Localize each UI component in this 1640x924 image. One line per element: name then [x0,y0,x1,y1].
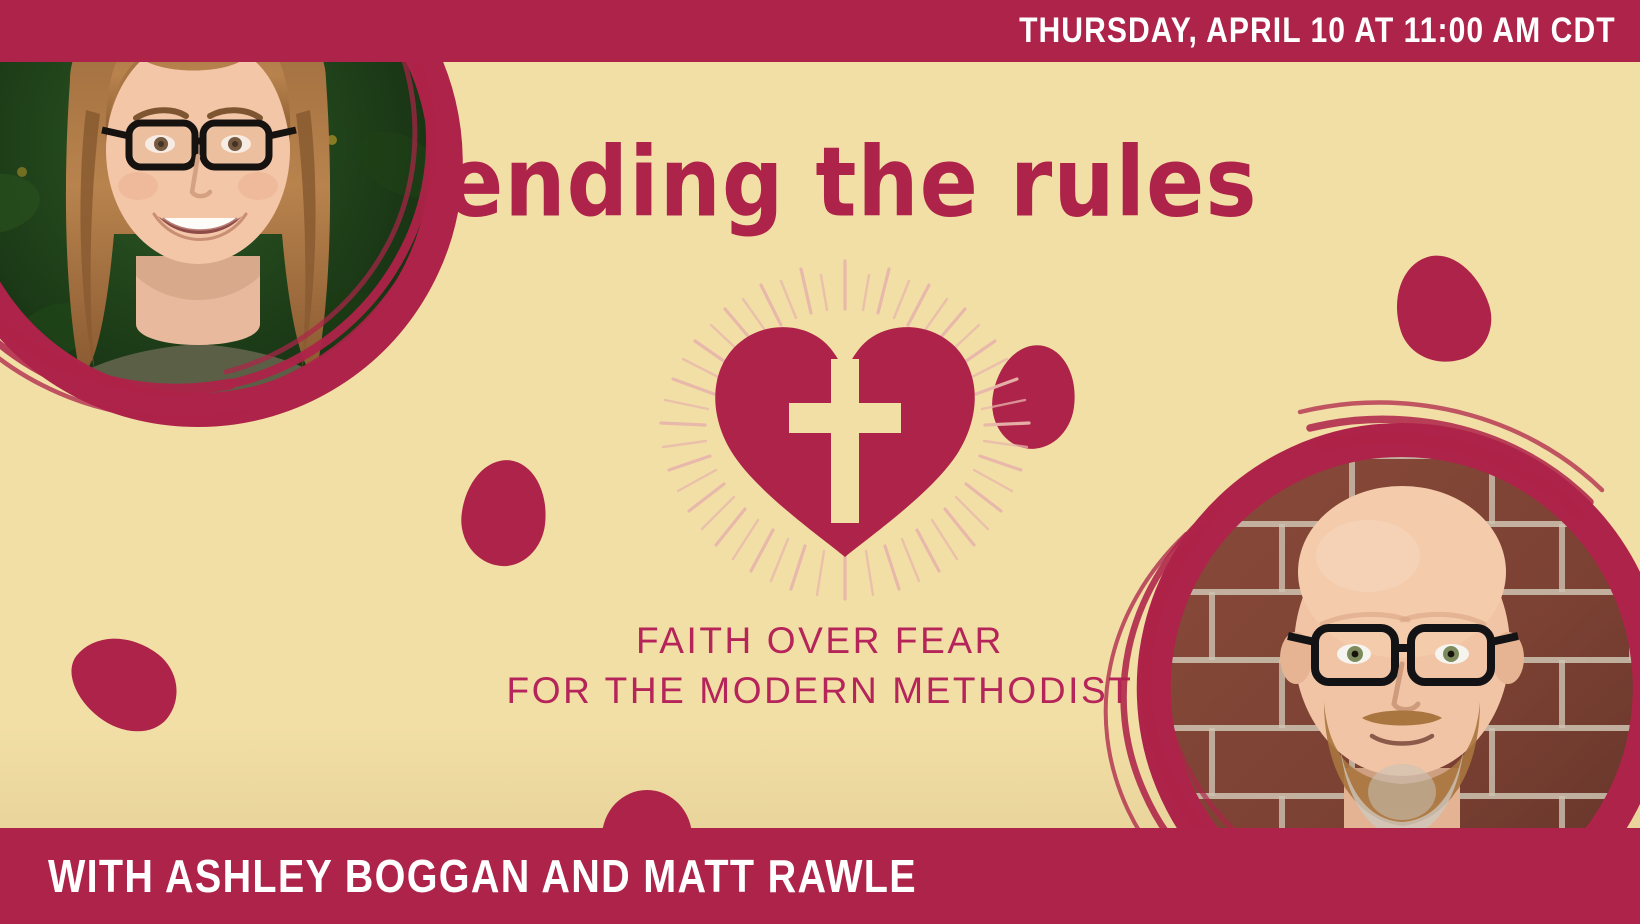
heart-with-cross-icon [615,255,1075,605]
speakers-text: WITH ASHLEY BOGGAN AND MATT RAWLE [48,849,917,903]
promo-poster: bending the rules FAITH OVER FEAR FOR TH… [0,0,1640,924]
page-title: bending the rules [382,135,1257,231]
event-datetime-text: THURSDAY, APRIL 10 AT 11:00 AM CDT [1019,11,1616,51]
avatar-ashley-boggan [0,0,490,504]
event-datetime-banner: THURSDAY, APRIL 10 AT 11:00 AM CDT [0,0,1640,62]
speakers-banner: WITH ASHLEY BOGGAN AND MATT RAWLE [0,828,1640,924]
